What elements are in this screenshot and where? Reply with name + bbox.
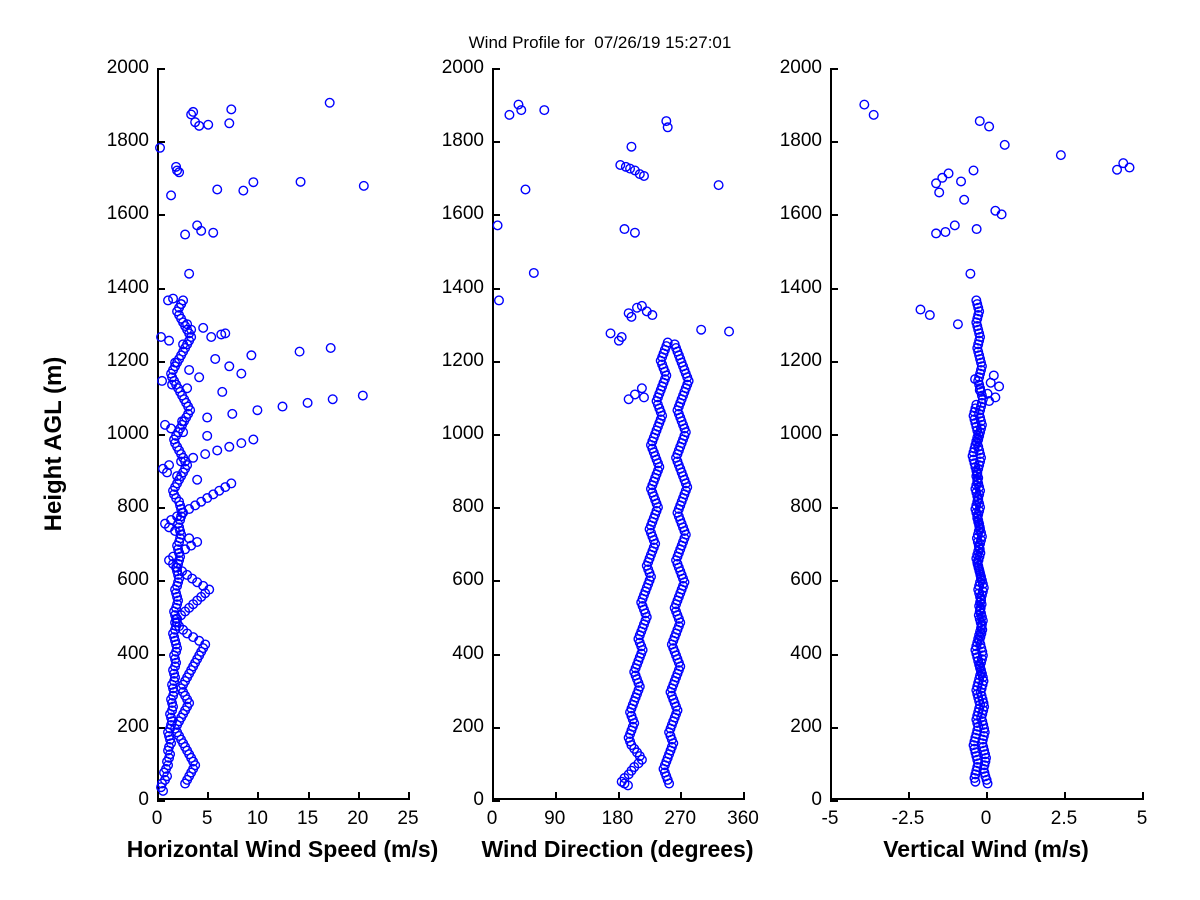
x-tick-mark	[308, 792, 310, 800]
y-tick-label: 1000	[442, 423, 484, 445]
x-tick-mark	[207, 792, 209, 800]
data-point	[158, 377, 167, 386]
x-tick-label: 15	[297, 808, 318, 830]
x-tick-label: 0	[981, 808, 992, 830]
x-tick-label: 2.5	[1051, 808, 1077, 830]
data-point	[164, 296, 173, 305]
x-tick-mark	[257, 792, 259, 800]
y-tick-mark	[830, 800, 838, 802]
x-axis-label: Vertical Wind (m/s)	[883, 836, 1089, 863]
x-tick-mark	[1064, 792, 1066, 800]
data-point	[237, 369, 246, 378]
data-point	[951, 221, 960, 230]
x-tick-label: 10	[247, 808, 268, 830]
data-point	[966, 269, 975, 278]
y-tick-mark	[830, 654, 838, 656]
y-tick-mark	[157, 361, 165, 363]
panel-wind-direction: 0200400600800100012001400160018002000090…	[492, 68, 743, 800]
y-axis-label: Height AGL (m)	[40, 314, 68, 574]
y-tick-mark	[157, 727, 165, 729]
y-tick-label: 800	[452, 496, 484, 518]
y-tick-label: 1800	[442, 130, 484, 152]
data-point	[204, 120, 213, 129]
y-tick-mark	[157, 141, 165, 143]
data-point	[495, 296, 504, 305]
x-tick-label: 180	[602, 808, 634, 830]
y-tick-mark	[492, 654, 500, 656]
chart-title: Wind Profile for 07/26/19 15:27:01	[0, 33, 1200, 53]
x-tick-mark	[743, 792, 745, 800]
x-tick-label: 20	[347, 808, 368, 830]
data-point	[505, 111, 514, 120]
data-point	[638, 384, 647, 393]
data-point	[1113, 165, 1122, 174]
y-tick-label: 400	[790, 643, 822, 665]
y-tick-mark	[157, 68, 165, 70]
data-point	[606, 329, 615, 338]
y-tick-label: 600	[117, 569, 149, 591]
y-tick-label: 0	[473, 789, 484, 811]
x-tick-label: 90	[544, 808, 565, 830]
data-point	[540, 106, 549, 115]
data-point	[213, 185, 222, 194]
data-point	[360, 182, 369, 191]
x-tick-mark	[1142, 792, 1144, 800]
x-tick-mark	[830, 792, 832, 800]
data-point	[239, 186, 248, 195]
data-point	[620, 225, 629, 234]
y-tick-label: 600	[790, 569, 822, 591]
y-tick-mark	[157, 654, 165, 656]
data-point	[185, 366, 194, 375]
data-point	[1125, 163, 1134, 172]
data-point	[957, 177, 966, 186]
y-tick-mark	[492, 288, 500, 290]
y-tick-label: 1200	[442, 350, 484, 372]
y-tick-label: 200	[790, 716, 822, 738]
data-point	[195, 373, 204, 382]
x-tick-label: 5	[1137, 808, 1148, 830]
data-point	[295, 347, 304, 356]
data-point	[278, 402, 287, 411]
y-tick-label: 1800	[107, 130, 149, 152]
data-point	[960, 195, 969, 204]
x-tick-mark	[555, 792, 557, 800]
data-point	[225, 443, 234, 452]
x-axis-label: Horizontal Wind Speed (m/s)	[127, 836, 439, 863]
data-point	[183, 384, 192, 393]
y-tick-label: 1600	[780, 203, 822, 225]
y-tick-label: 400	[452, 643, 484, 665]
data-point	[303, 399, 312, 408]
data-point	[663, 123, 672, 132]
wind-profile-figure: Wind Profile for 07/26/19 15:27:01 Heigh…	[0, 0, 1200, 900]
data-point	[990, 371, 999, 380]
y-tick-mark	[492, 507, 500, 509]
data-point	[228, 410, 237, 419]
y-tick-mark	[830, 68, 838, 70]
data-point	[1000, 141, 1009, 150]
y-tick-mark	[830, 727, 838, 729]
y-tick-label: 200	[452, 716, 484, 738]
y-tick-mark	[157, 434, 165, 436]
y-tick-mark	[830, 361, 838, 363]
y-tick-mark	[492, 361, 500, 363]
x-tick-mark	[492, 792, 494, 800]
y-tick-label: 0	[138, 789, 149, 811]
y-tick-label: 400	[117, 643, 149, 665]
data-point	[638, 302, 647, 311]
data-point	[725, 327, 734, 336]
y-tick-label: 0	[811, 789, 822, 811]
data-point	[213, 446, 222, 455]
data-point	[253, 406, 262, 415]
y-tick-label: 1400	[780, 277, 822, 299]
x-tick-label: 360	[727, 808, 759, 830]
y-tick-label: 1000	[107, 423, 149, 445]
data-point	[201, 450, 210, 459]
data-point	[249, 435, 258, 444]
y-tick-label: 1000	[780, 423, 822, 445]
data-point	[189, 453, 198, 462]
data-point	[167, 191, 176, 200]
data-point	[975, 117, 984, 126]
data-point	[199, 324, 208, 333]
panel-horizontal-wind-speed: 0200400600800100012001400160018002000051…	[157, 68, 408, 800]
data-point	[941, 228, 950, 237]
x-tick-mark	[358, 792, 360, 800]
data-point	[995, 382, 1004, 391]
y-tick-mark	[492, 800, 500, 802]
data-point	[969, 166, 978, 175]
data-point	[156, 143, 165, 152]
x-tick-label: 25	[397, 808, 418, 830]
x-tick-mark	[408, 792, 410, 800]
y-tick-mark	[492, 727, 500, 729]
data-point	[189, 108, 198, 117]
data-point	[203, 413, 212, 422]
y-tick-label: 1200	[107, 350, 149, 372]
scatter-plot-vertical-wind	[830, 68, 1142, 800]
data-point	[211, 355, 220, 364]
data-point	[165, 336, 174, 345]
data-point	[326, 344, 335, 353]
data-point	[218, 388, 227, 397]
data-point	[325, 98, 334, 107]
y-tick-label: 800	[790, 496, 822, 518]
x-tick-label: 270	[664, 808, 696, 830]
y-tick-mark	[830, 507, 838, 509]
y-tick-mark	[157, 580, 165, 582]
y-tick-label: 1400	[442, 277, 484, 299]
data-point	[209, 228, 218, 237]
data-point	[185, 269, 194, 278]
data-point	[181, 230, 190, 239]
data-point	[225, 119, 234, 128]
data-point	[1057, 151, 1066, 160]
x-tick-mark	[157, 792, 159, 800]
y-tick-mark	[492, 580, 500, 582]
scatter-plot-horizontal-wind-speed	[157, 68, 408, 800]
data-point	[227, 105, 236, 114]
y-tick-mark	[157, 507, 165, 509]
data-point	[249, 178, 258, 187]
data-point	[237, 439, 246, 448]
data-point	[627, 142, 636, 151]
data-point	[225, 362, 234, 371]
y-tick-mark	[492, 68, 500, 70]
data-point	[296, 178, 305, 187]
y-tick-mark	[157, 288, 165, 290]
y-tick-label: 1400	[107, 277, 149, 299]
y-tick-label: 200	[117, 716, 149, 738]
data-point	[954, 320, 963, 329]
y-tick-mark	[492, 434, 500, 436]
y-tick-mark	[830, 214, 838, 216]
x-tick-mark	[680, 792, 682, 800]
y-tick-label: 1200	[780, 350, 822, 372]
y-tick-label: 1600	[442, 203, 484, 225]
panel-vertical-wind: 0200400600800100012001400160018002000-5-…	[830, 68, 1142, 800]
x-tick-mark	[908, 792, 910, 800]
data-point	[521, 185, 530, 194]
x-tick-label: 5	[202, 808, 213, 830]
data-point	[624, 395, 633, 404]
y-tick-mark	[157, 214, 165, 216]
data-point	[972, 225, 981, 234]
scatter-plot-wind-direction	[492, 68, 743, 800]
data-point	[926, 311, 935, 320]
y-tick-mark	[830, 434, 838, 436]
data-point	[530, 269, 539, 278]
data-point	[932, 229, 941, 238]
data-point	[938, 174, 947, 183]
data-point	[616, 161, 625, 170]
x-tick-label: -2.5	[892, 808, 925, 830]
x-tick-label: 0	[152, 808, 163, 830]
data-point	[640, 393, 649, 402]
data-point	[869, 111, 878, 120]
data-point	[247, 351, 256, 360]
data-point	[916, 305, 925, 314]
data-point	[944, 169, 953, 178]
y-tick-label: 600	[452, 569, 484, 591]
y-tick-label: 1600	[107, 203, 149, 225]
data-point	[207, 333, 216, 342]
data-point	[193, 475, 202, 484]
y-tick-label: 2000	[780, 57, 822, 79]
y-tick-mark	[492, 214, 500, 216]
x-tick-label: 0	[487, 808, 498, 830]
data-point	[714, 181, 723, 190]
y-tick-label: 2000	[107, 57, 149, 79]
data-point	[633, 303, 642, 312]
data-point	[860, 100, 869, 109]
y-tick-mark	[830, 288, 838, 290]
data-point	[697, 325, 706, 334]
data-point	[631, 228, 640, 237]
y-tick-label: 2000	[442, 57, 484, 79]
data-point	[169, 294, 178, 303]
data-point	[985, 122, 994, 131]
x-tick-mark	[618, 792, 620, 800]
y-tick-label: 1800	[780, 130, 822, 152]
data-point	[203, 432, 212, 441]
x-tick-label: -5	[822, 808, 839, 830]
x-axis-label: Wind Direction (degrees)	[482, 836, 754, 863]
y-tick-mark	[492, 141, 500, 143]
data-point	[493, 221, 502, 230]
data-point	[157, 333, 166, 342]
data-point	[359, 391, 368, 400]
y-tick-mark	[830, 580, 838, 582]
y-tick-label: 800	[117, 496, 149, 518]
data-point	[935, 188, 944, 197]
y-tick-mark	[157, 800, 165, 802]
x-tick-mark	[986, 792, 988, 800]
y-tick-mark	[830, 141, 838, 143]
data-point	[662, 117, 671, 126]
data-point	[328, 395, 337, 404]
